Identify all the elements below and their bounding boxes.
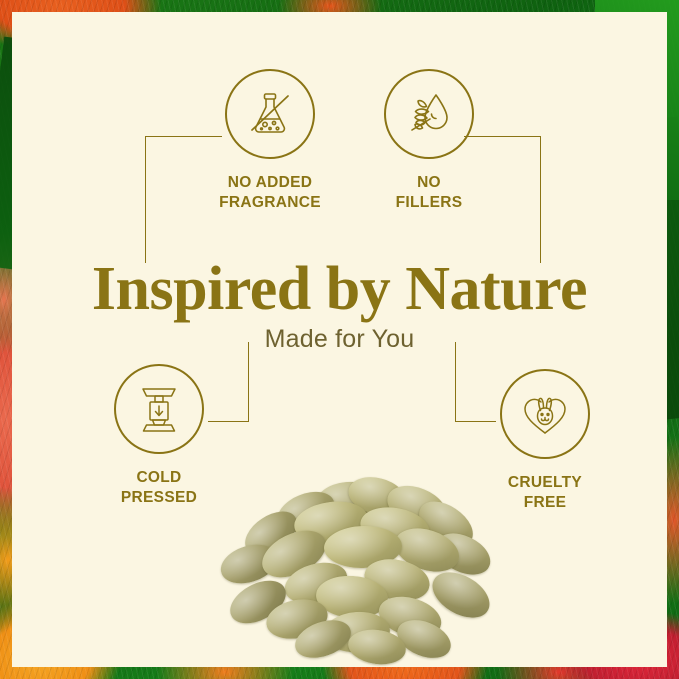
badge-no-fillers: NO FILLERS xyxy=(354,69,504,213)
droplet-leaf-icon xyxy=(400,85,458,143)
flask-no-fragrance-icon xyxy=(241,85,299,143)
badge-circle-cruelty-free xyxy=(500,369,590,459)
rabbit-heart-icon xyxy=(516,385,574,443)
product-infographic-poster: NO ADDED FRAGRANCE N xyxy=(0,0,679,679)
badge-circle-no-fillers xyxy=(384,69,474,159)
pumpkin-seeds-pile xyxy=(198,472,498,667)
badge-no-added-fragrance: NO ADDED FRAGRANCE xyxy=(195,69,345,213)
badge-label-no-added-fragrance: NO ADDED FRAGRANCE xyxy=(195,173,345,213)
headline-title: Inspired by Nature xyxy=(12,257,667,322)
headline-subtitle: Made for You xyxy=(12,325,667,354)
badge-circle-cold-pressed xyxy=(114,364,204,454)
badge-label-no-fillers: NO FILLERS xyxy=(354,173,504,213)
badge-circle-no-added-fragrance xyxy=(225,69,315,159)
content-panel: NO ADDED FRAGRANCE N xyxy=(12,12,667,667)
press-machine-icon xyxy=(130,380,188,438)
